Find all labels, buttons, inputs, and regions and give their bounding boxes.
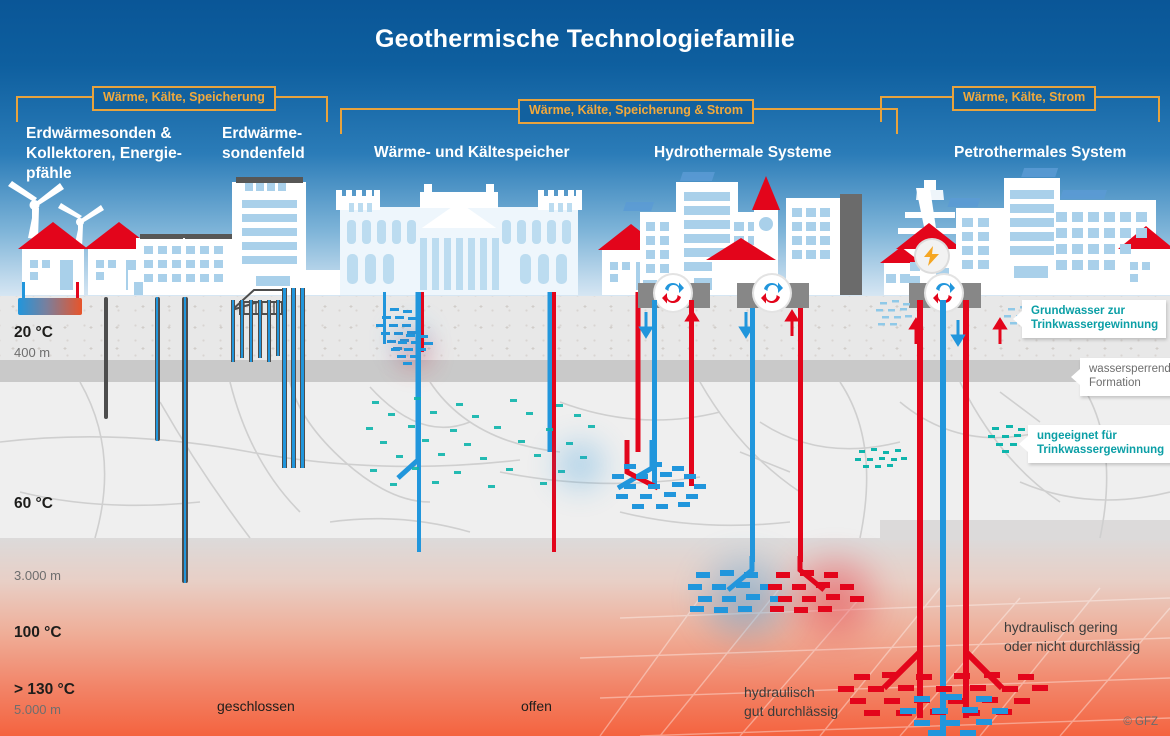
group-label-erdwaermesonden: Erdwärmesonden & Kollektoren, Energie- p… [26,124,182,184]
label-impermeable: hydraulisch gering oder nicht durchlässi… [1004,618,1140,656]
infographic-root: Geothermische Technologiefamilie Wärme, … [0,0,1170,736]
label-geschlossen: geschlossen [217,698,295,714]
flow-arrows-hydrothermal [630,308,890,352]
callout-unsuitable-line-2: Trinkwassergewinnung [1037,443,1164,457]
label-impermeable-line-1: hydraulisch gering [1004,618,1140,637]
groundwater-dashes-left [876,300,916,334]
callout-tip [1013,311,1022,327]
chip-waerme-kaelte-speicherung: Wärme, Kälte, Speicherung [92,86,276,111]
temp-label-130c: > 130 °C [14,681,75,699]
callout-unsuitable-line-1: ungeeignet für [1037,429,1164,443]
page-title: Geothermische Technologiefamilie [0,25,1170,54]
callout-groundwater-line-2: Trinkwassergewinnung [1031,318,1158,332]
label-permeable-line-1: hydraulisch [744,683,838,702]
callout-aquitard-line-2: Formation [1089,376,1170,390]
heat-pump-icon-1[interactable] [655,275,691,311]
group-label-sondenfeld: Erdwärme- sondenfeld [222,124,305,164]
heat-pump-icon [660,280,686,306]
label-permeable: hydraulisch gut durchlässig [744,683,838,721]
group-label-line-1: Erdwärmesonden & [26,124,182,144]
callout-groundwater: Grundwasser zur Trinkwassergewinnung [1022,300,1166,338]
heat-pump-icon [759,280,785,306]
callout-aquitard-line-1: wassersperrende [1089,362,1170,376]
temp-label-60c: 60 °C [14,495,53,513]
egs-fracture-dashes-cold [880,694,1020,736]
label-impermeable-line-2: oder nicht durchlässig [1004,637,1140,656]
landmark-building [336,184,582,295]
group-label-line-2: Kollektoren, Energie- [26,144,182,164]
depth-label-400m: 400 m [14,345,50,360]
chip-waerme-kaelte-strom: Wärme, Kälte, Strom [952,86,1096,111]
label-offen: offen [521,698,552,714]
group-label-speicher: Wärme- und Kältespeicher [374,143,570,163]
probe-shallow-1 [104,297,108,419]
depth-label-3000m: 3.000 m [14,568,61,583]
lightning-bolt-badge [916,240,948,272]
ates-plume-middle [540,430,620,500]
unsuitable-water-dashes-2 [855,448,911,472]
group-label-petrothermal: Petrothermales System [954,143,1126,163]
callout-groundwater-line-1: Grundwasser zur [1031,304,1158,318]
group-label-hydrothermal: Hydrothermale Systeme [654,143,831,163]
group-label-sondenfeld-line-1: Erdwärme- [222,124,305,144]
depth-label-5000m: 5.000 m [14,702,61,717]
temp-label-100c: 100 °C [14,624,62,642]
credit-label: © GFZ [1123,716,1158,728]
callout-tip [1019,436,1028,452]
group-label-line-3: pfähle [26,164,182,184]
callout-unsuitable: ungeeignet für Trinkwassergewinnung [1028,425,1170,463]
temp-label-20c: 20 °C [14,324,53,342]
reservoir-dashes-hot-deep [766,570,876,618]
callout-aquitard: wassersperrende Formation [1080,358,1170,396]
lightning-bolt-icon [923,246,941,266]
chip-waerme-kaelte-speicherung-strom: Wärme, Kälte, Speicherung & Strom [518,99,754,124]
label-permeable-line-2: gut durchlässig [744,702,838,721]
flow-arrows-petrothermal [900,316,1020,360]
heat-pump-icon-2[interactable] [754,275,790,311]
group-label-sondenfeld-line-2: sondenfeld [222,144,305,164]
callout-tip [1071,369,1080,385]
